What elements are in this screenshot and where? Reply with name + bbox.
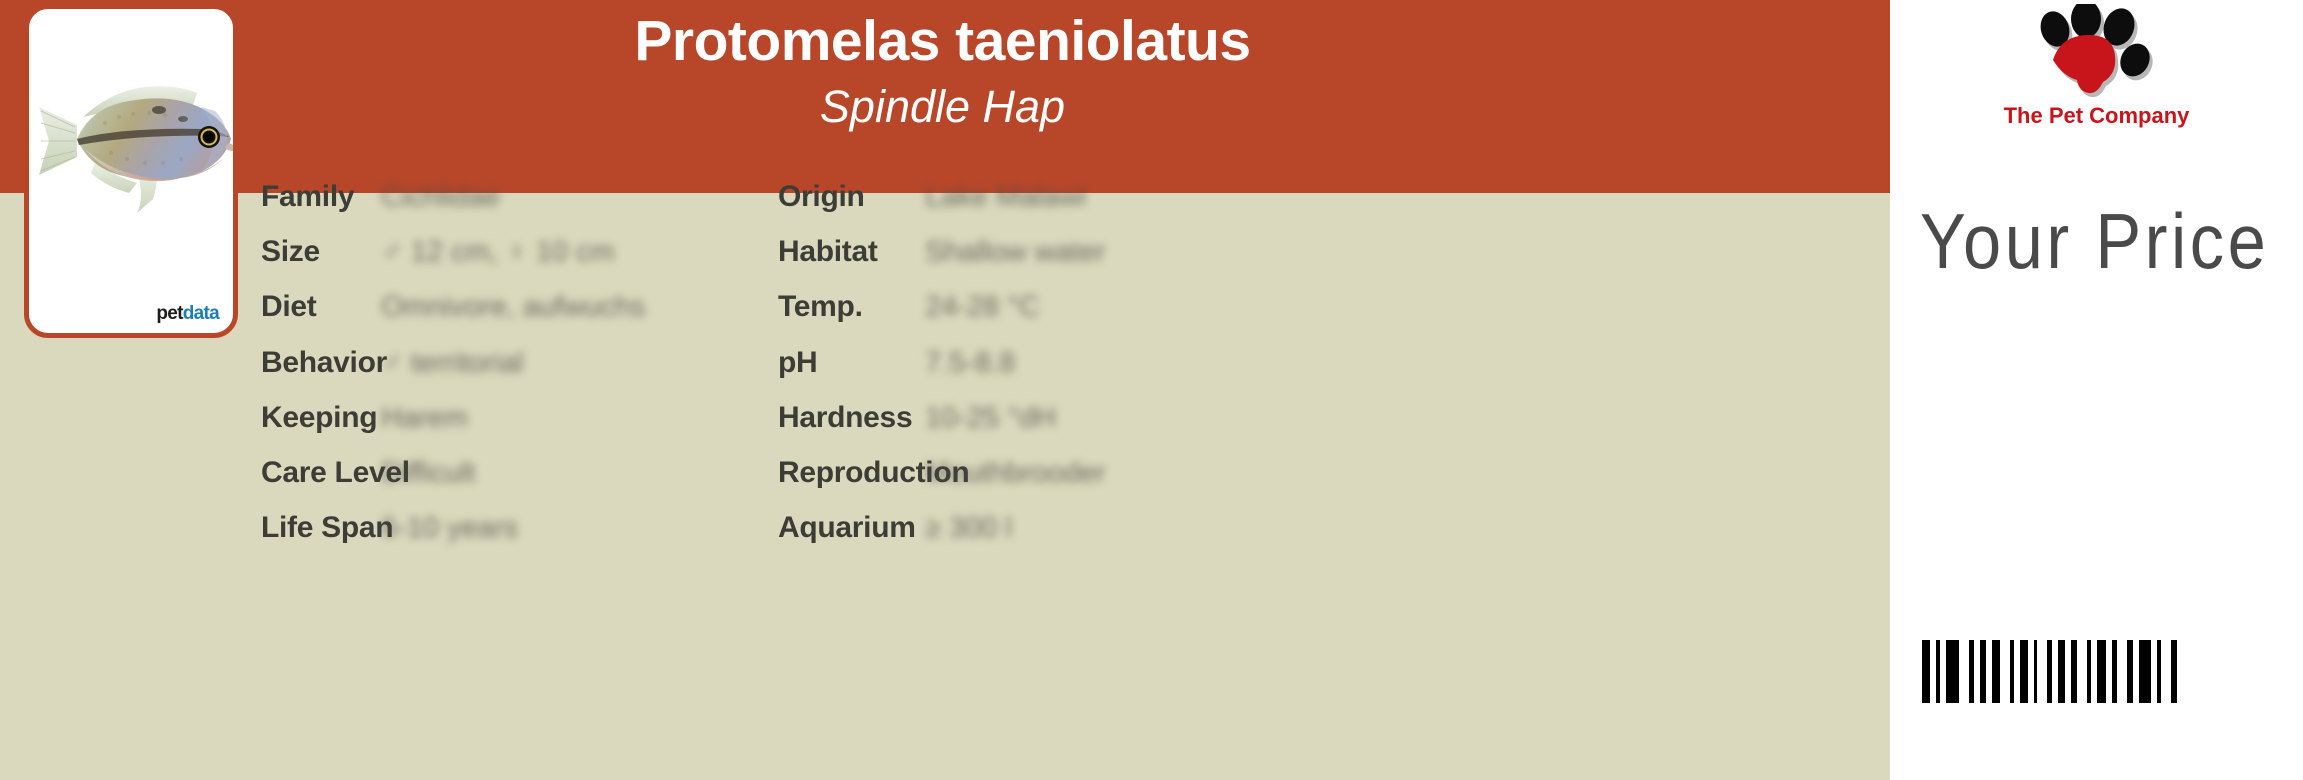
spec-row-habitat: Habitat Shallow water (778, 232, 878, 272)
spec-row-size: Size ♂ 12 cm, ♀ 10 cm (261, 232, 320, 272)
spec-value-family: Cichlidae (381, 183, 500, 212)
spec-row-keeping: Keeping Harem (261, 398, 377, 438)
barcode-bar (2171, 640, 2177, 703)
barcode-bar (1969, 640, 1974, 703)
spec-value-reproduction: Mouthbrooder (925, 459, 1106, 488)
barcode-bar (1992, 640, 2000, 703)
spec-label-aquarium: Aquarium (778, 513, 916, 543)
spec-row-family: Family Cichlidae (261, 177, 354, 217)
barcode-bar (2034, 640, 2037, 703)
barcode-bar (1946, 640, 1959, 703)
spec-label-size: Size (261, 237, 320, 267)
spec-row-temp: Temp. 24-28 °C (778, 287, 863, 327)
barcode-bar (2157, 640, 2161, 703)
scientific-name: Protomelas taeniolatus (330, 8, 1555, 75)
barcode-bar (2112, 640, 2117, 703)
spec-value-care-level: Difficult (381, 459, 476, 488)
spec-value-size: ♂ 12 cm, ♀ 10 cm (381, 238, 615, 267)
spec-row-care-level: Care Level Difficult (261, 453, 410, 493)
barcode-bar (2071, 640, 2077, 703)
brand-name: The Pet Company (1890, 103, 2303, 129)
spec-value-life-span: 6-10 years (381, 514, 518, 543)
price-heading: Your Price (1920, 196, 2290, 287)
price-panel: The Pet Company Your Price (1890, 0, 2303, 780)
barcode-bar (2087, 640, 2091, 703)
spec-value-hardness: 10-25 °dH (925, 404, 1056, 433)
spec-label-behavior: Behavior (261, 348, 387, 378)
barcode-bar (2127, 640, 2133, 703)
spec-label-family: Family (261, 182, 354, 212)
barcode-bar (1936, 640, 1940, 703)
barcode-bar (1980, 640, 1986, 703)
spec-row-reproduction: Reproduction Mouthbrooder (778, 453, 969, 493)
spec-row-diet: Diet Omnivore, aufwuchs (261, 287, 316, 327)
spec-row-ph: pH 7.5-8.8 (778, 343, 817, 383)
barcode-bar (2047, 640, 2052, 703)
spec-column-right: Origin Lake Malawi Habitat Shallow water… (778, 193, 1478, 780)
spec-label-diet: Diet (261, 292, 316, 322)
spec-label-temp: Temp. (778, 292, 863, 322)
spec-label-origin: Origin (778, 182, 865, 212)
spec-label-hardness: Hardness (778, 403, 912, 433)
barcode-bar (2139, 640, 2151, 703)
spec-grid: Family Cichlidae Size ♂ 12 cm, ♀ 10 cm D… (0, 193, 1890, 780)
title-block: Protomelas taeniolatus Spindle Hap (330, 8, 1555, 133)
spec-value-ph: 7.5-8.8 (925, 349, 1015, 378)
paw-print-icon (2029, 4, 2165, 104)
product-barcode (1922, 640, 2177, 703)
spec-row-behavior: Behavior ♂ territorial (261, 343, 387, 383)
spec-value-temp: 24-28 °C (925, 293, 1040, 322)
barcode-bar (1922, 640, 1930, 703)
main-content-area: Protomelas taeniolatus Spindle Hap (0, 0, 1890, 780)
spec-value-diet: Omnivore, aufwuchs (381, 293, 645, 322)
spec-label-keeping: Keeping (261, 403, 377, 433)
spec-row-aquarium: Aquarium ≥ 300 l (778, 508, 916, 548)
spec-label-life-span: Life Span (261, 513, 393, 543)
spec-row-life-span: Life Span 6-10 years (261, 508, 393, 548)
species-info-sheet: Protomelas taeniolatus Spindle Hap (0, 0, 2303, 780)
common-name: Spindle Hap (330, 81, 1555, 133)
barcode-bar (2058, 640, 2065, 703)
spec-label-ph: pH (778, 348, 817, 378)
spec-row-origin: Origin Lake Malawi (778, 177, 865, 217)
barcode-bar (2097, 640, 2106, 703)
spec-value-behavior: ♂ territorial (381, 349, 524, 378)
spec-label-habitat: Habitat (778, 237, 878, 267)
brand-logo: The Pet Company (1890, 4, 2303, 140)
spec-value-aquarium: ≥ 300 l (925, 514, 1012, 543)
spec-value-habitat: Shallow water (925, 238, 1106, 267)
spec-row-hardness: Hardness 10-25 °dH (778, 398, 912, 438)
spec-value-origin: Lake Malawi (925, 183, 1086, 212)
barcode-bar (2020, 640, 2028, 703)
spec-value-keeping: Harem (381, 404, 468, 433)
barcode-bar (2010, 640, 2014, 703)
